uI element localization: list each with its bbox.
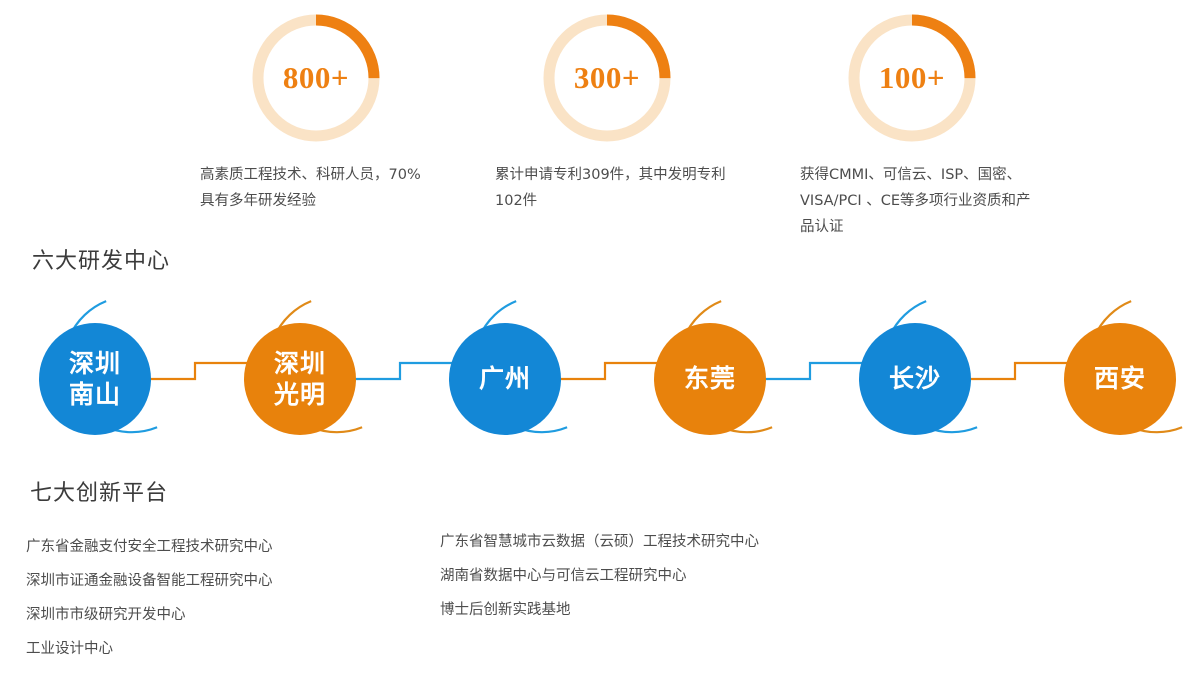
- stats-row: 800+ 高素质工程技术、科研人员，70%具有多年研发经验 300+ 累计申请专…: [0, 0, 1200, 240]
- center-outer-arcs: [43, 301, 1182, 453]
- center-circle-2[interactable]: [449, 323, 561, 435]
- connector-2-3: [560, 363, 660, 379]
- stat-card-2: 100+ 获得CMMI、可信云、ISP、国密、VISA/PCI 、CE等多项行业…: [800, 10, 1032, 240]
- donut-chart-0: 800+: [248, 10, 384, 146]
- infographic-page: 800+ 高素质工程技术、科研人员，70%具有多年研发经验 300+ 累计申请专…: [0, 0, 1200, 694]
- center-circle-5[interactable]: [1064, 323, 1176, 435]
- platform-item: 广东省金融支付安全工程技术研究中心: [26, 530, 273, 564]
- center-circle-4[interactable]: [859, 323, 971, 435]
- stat-card-0: 800+ 高素质工程技术、科研人员，70%具有多年研发经验: [200, 10, 432, 214]
- platform-list-left: 广东省金融支付安全工程技术研究中心 深圳市证通金融设备智能工程研究中心 深圳市市…: [26, 530, 273, 666]
- section-title-centers: 六大研发中心: [32, 243, 170, 275]
- connector-4-5: [970, 363, 1070, 379]
- stat-caption-0: 高素质工程技术、科研人员，70%具有多年研发经验: [200, 162, 432, 214]
- center-circle-0[interactable]: [39, 323, 151, 435]
- donut-value-1: 300+: [539, 10, 675, 146]
- platform-item: 工业设计中心: [26, 632, 273, 666]
- platform-item: 深圳市证通金融设备智能工程研究中心: [26, 564, 273, 598]
- connector-1-2: [355, 363, 455, 379]
- platform-item: 湖南省数据中心与可信云工程研究中心: [440, 559, 759, 593]
- donut-value-2: 100+: [844, 10, 980, 146]
- connector-3-4: [765, 363, 865, 379]
- donut-chart-1: 300+: [539, 10, 675, 146]
- center-circle-3[interactable]: [654, 323, 766, 435]
- center-circle-1[interactable]: [244, 323, 356, 435]
- platform-list-right: 广东省智慧城市云数据（云硕）工程技术研究中心 湖南省数据中心与可信云工程研究中心…: [440, 525, 759, 627]
- platform-item: 广东省智慧城市云数据（云硕）工程技术研究中心: [440, 525, 759, 559]
- centers-band: 深圳 南山 深圳 光明 广州 东莞 长沙 西安: [0, 295, 1200, 470]
- platform-item: 深圳市市级研究开发中心: [26, 598, 273, 632]
- platform-item: 博士后创新实践基地: [440, 593, 759, 627]
- section-title-platforms: 七大创新平台: [30, 475, 168, 507]
- donut-chart-2: 100+: [844, 10, 980, 146]
- donut-value-0: 800+: [248, 10, 384, 146]
- stat-caption-2: 获得CMMI、可信云、ISP、国密、VISA/PCI 、CE等多项行业资质和产品…: [800, 162, 1032, 240]
- centers-diagram-svg: [0, 295, 1200, 470]
- stat-caption-1: 累计申请专利309件，其中发明专利102件: [495, 162, 727, 214]
- connector-0-1: [150, 363, 250, 379]
- stat-card-1: 300+ 累计申请专利309件，其中发明专利102件: [495, 10, 727, 214]
